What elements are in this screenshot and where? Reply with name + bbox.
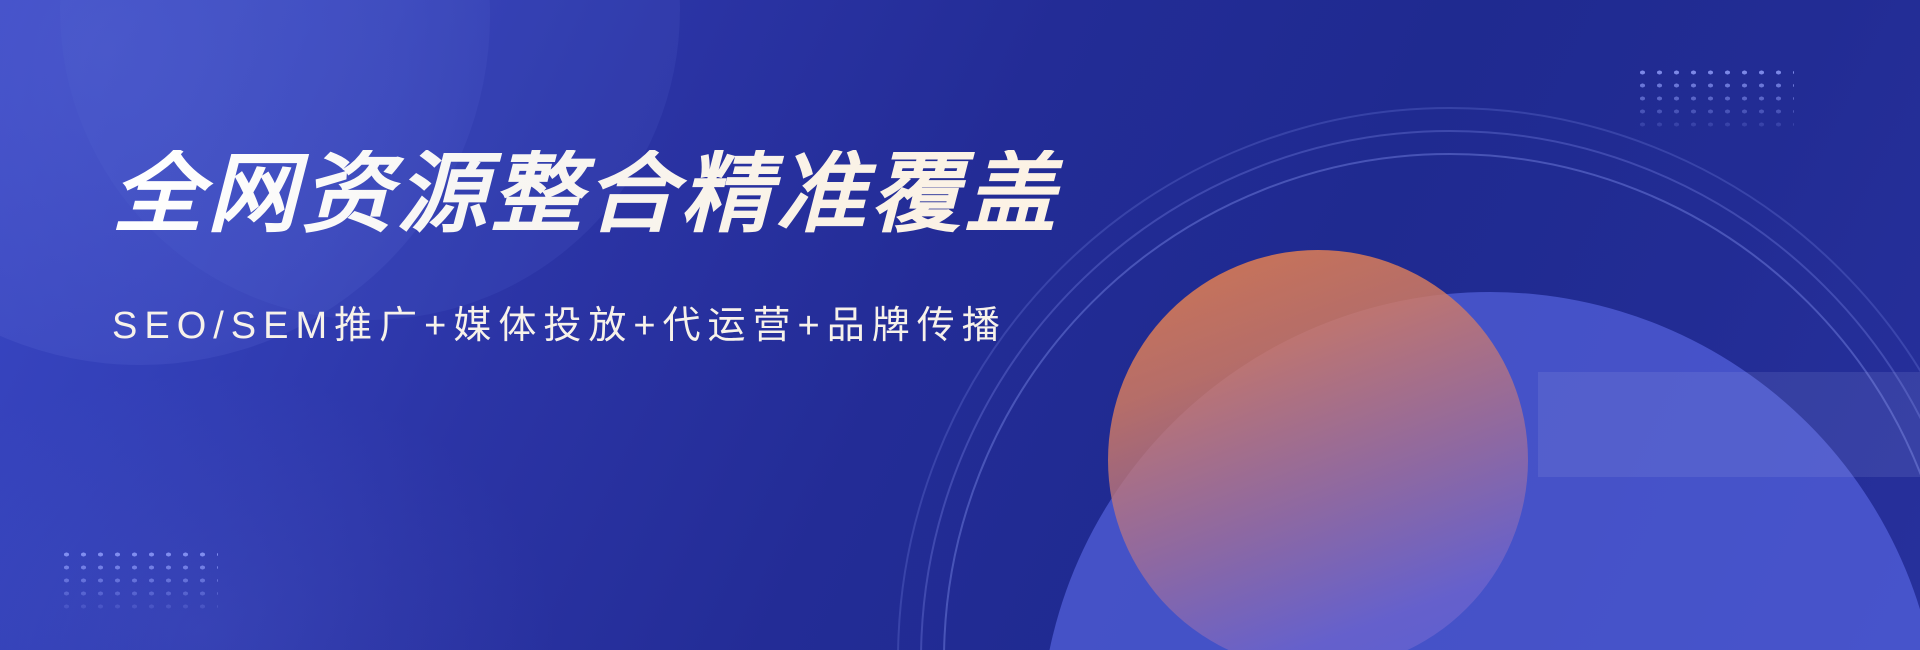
banner-subtitle: SEO/SEM推广+媒体投放+代运营+品牌传播 — [112, 304, 1112, 350]
dot-grid-bottom-left — [58, 548, 218, 610]
dot-grid-top-right — [1634, 66, 1794, 128]
promo-banner: 全网资源整合精准覆盖 SEO/SEM推广+媒体投放+代运营+品牌传播 — [0, 0, 1920, 650]
circle-orange-gradient-decoration — [1108, 250, 1528, 650]
banner-headline: 全网资源整合精准覆盖 — [112, 150, 1142, 238]
translucent-band-decoration — [1538, 372, 1920, 477]
banner-text-block: 全网资源整合精准覆盖 SEO/SEM推广+媒体投放+代运营+品牌传播 — [112, 150, 1112, 350]
